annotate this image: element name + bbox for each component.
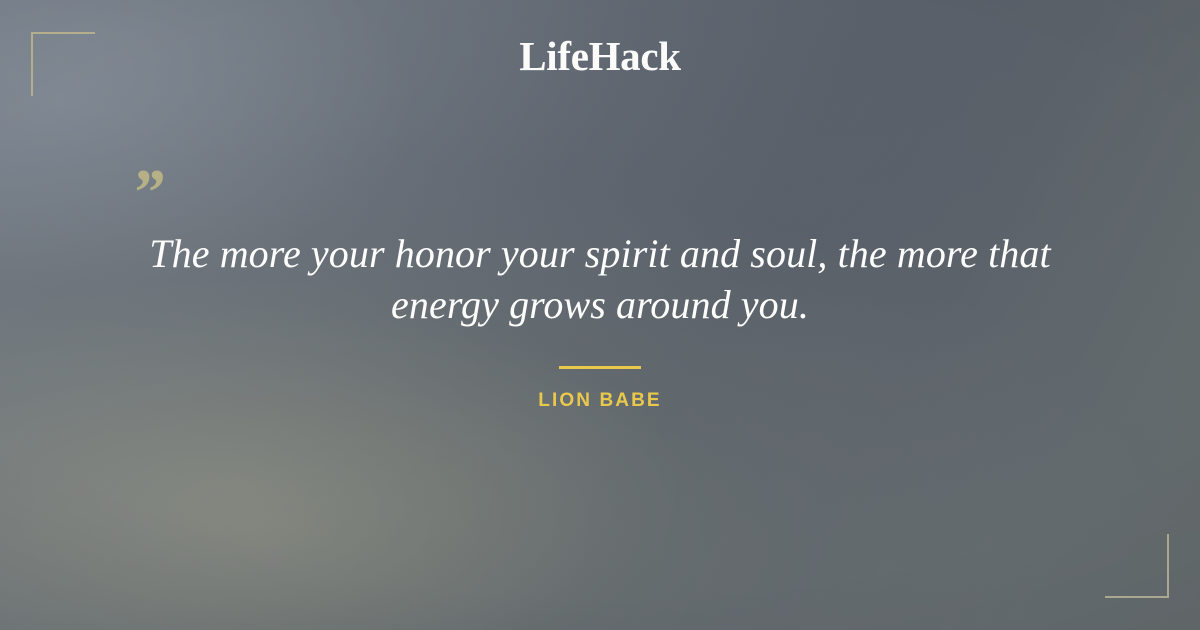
author-divider — [559, 366, 641, 369]
brand-logo: LifeHack — [0, 36, 1200, 77]
quote-block: ” The more your honor your spirit and so… — [0, 160, 1200, 410]
quote-card: LifeHack ” The more your honor your spir… — [0, 0, 1200, 630]
corner-bracket-bottom-right-icon — [1105, 534, 1169, 598]
quote-text: The more your honor your spirit and soul… — [118, 228, 1082, 330]
quotation-mark-icon: ” — [131, 160, 1200, 208]
brand-logo-text: LifeHack — [519, 36, 681, 77]
quote-author: LION BABE — [0, 391, 1200, 410]
